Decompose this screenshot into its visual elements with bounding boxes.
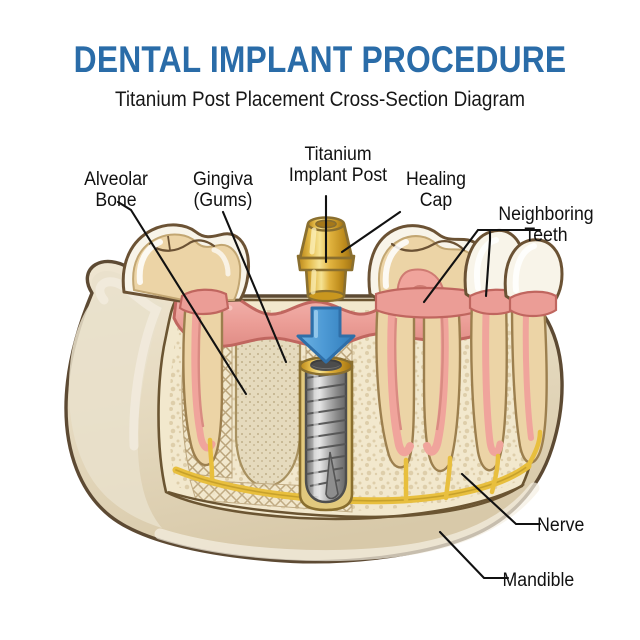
label-titanium-implant-post: Titanium Implant Post bbox=[273, 145, 403, 187]
label-gingiva: Gingiva (Gums) bbox=[172, 170, 274, 212]
label-mandible: Mandible bbox=[503, 571, 624, 592]
titanium-implant-screw bbox=[300, 358, 352, 511]
label-nerve: Nerve bbox=[537, 516, 621, 537]
dental-implant-illustration bbox=[0, 0, 640, 640]
label-alveolar-bone: Alveolar Bone bbox=[60, 170, 172, 212]
label-healing-cap: Healing Cap bbox=[391, 170, 480, 212]
diagram-canvas: DENTAL IMPLANT PROCEDURE Titanium Post P… bbox=[0, 0, 640, 640]
label-neighboring-teeth: Neighboring Teeth bbox=[481, 205, 611, 247]
